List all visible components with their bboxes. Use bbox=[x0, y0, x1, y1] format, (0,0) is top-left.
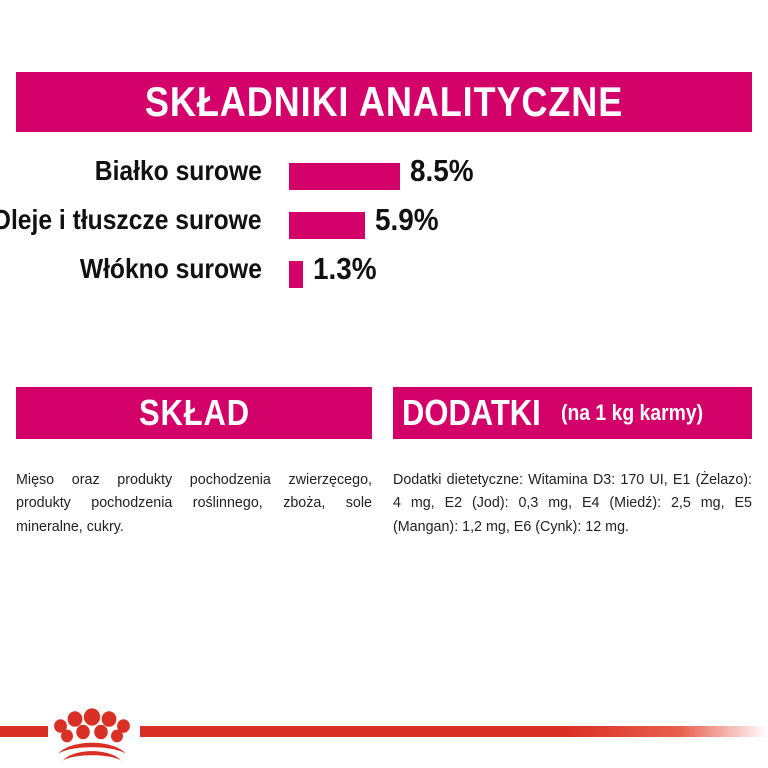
additives-header: DODATKI (na 1 kg karmy) bbox=[393, 387, 752, 439]
nutrient-label: Białko surowe bbox=[95, 152, 262, 190]
nutrient-value: 5.9% bbox=[375, 201, 439, 239]
additives-subtitle: (na 1 kg karmy) bbox=[561, 402, 703, 424]
nutrient-value: 8.5% bbox=[410, 152, 474, 190]
nutrient-row: Włókno surowe 1.3% bbox=[0, 250, 768, 299]
analytical-constituents-chart: Białko surowe 8.5% Oleje i tłuszcze suro… bbox=[0, 152, 768, 299]
analytical-constituents-header: SKŁADNIKI ANALITYCZNE bbox=[16, 72, 752, 132]
footer-rule-right bbox=[140, 726, 768, 737]
composition-header: SKŁAD bbox=[16, 387, 372, 439]
brand-footer bbox=[0, 716, 768, 768]
nutrient-bar bbox=[289, 212, 365, 239]
additives-title: DODATKI bbox=[402, 395, 541, 431]
royal-canin-crown-icon bbox=[52, 706, 132, 762]
footer-rule-left bbox=[0, 726, 48, 737]
composition-text: Mięso oraz produkty pochodzenia zwierzęc… bbox=[16, 469, 372, 538]
nutrient-row: Oleje i tłuszcze surowe 5.9% bbox=[0, 201, 768, 250]
analytical-constituents-title: SKŁADNIKI ANALITYCZNE bbox=[145, 81, 623, 123]
composition-title: SKŁAD bbox=[139, 395, 250, 431]
nutrient-row: Białko surowe 8.5% bbox=[0, 152, 768, 201]
nutrient-value: 1.3% bbox=[313, 250, 377, 288]
nutrient-bar bbox=[289, 163, 400, 190]
nutrient-bar bbox=[289, 261, 303, 288]
additives-text: Dodatki dietetyczne: Witamina D3: 170 UI… bbox=[393, 469, 752, 538]
nutrient-label: Włókno surowe bbox=[80, 250, 262, 288]
nutrient-label: Oleje i tłuszcze surowe bbox=[0, 201, 262, 239]
